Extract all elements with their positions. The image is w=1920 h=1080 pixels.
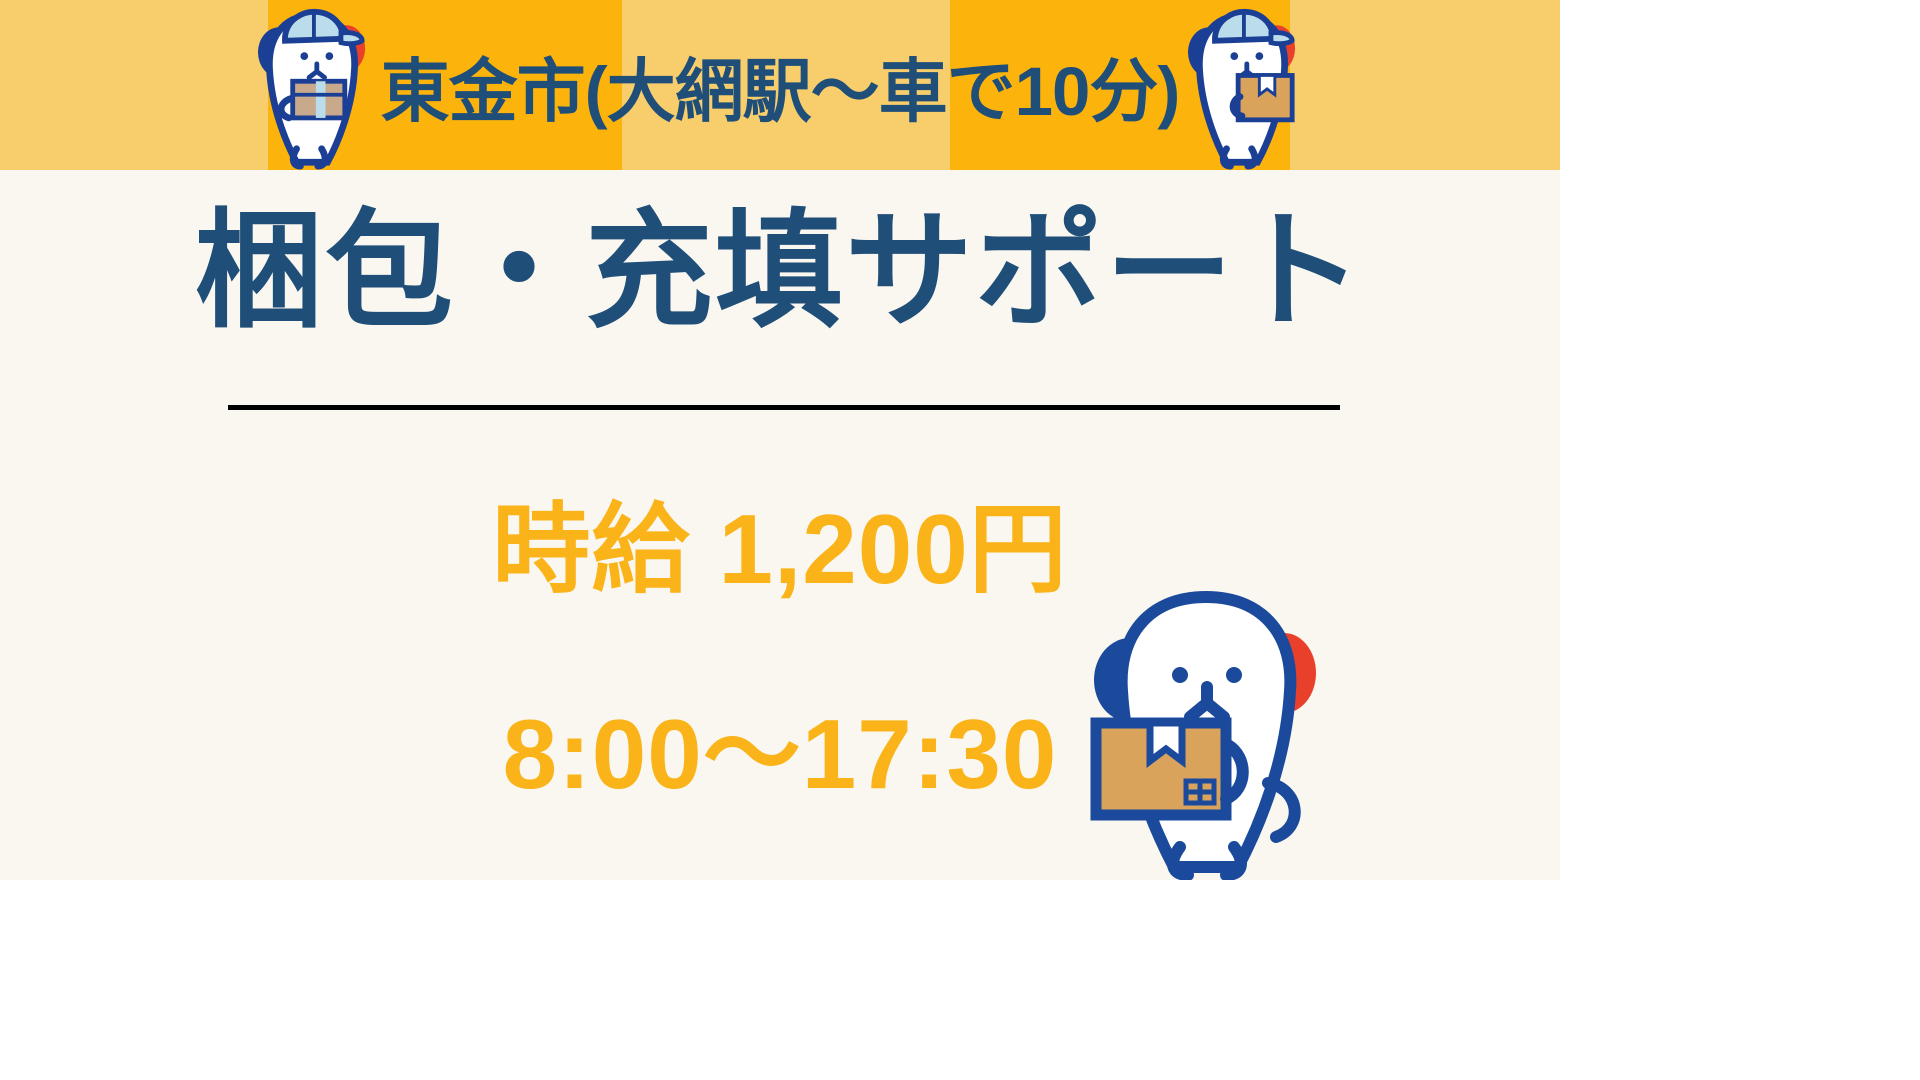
mascot-character-left <box>256 6 368 170</box>
title-divider <box>228 405 1340 410</box>
working-hours: 8:00〜17:30 <box>0 675 1560 817</box>
job-title: 梱包・充填サポート <box>0 205 1560 339</box>
hourly-wage: 時給 1,200円 <box>0 470 1560 612</box>
header-band: 東金市(大網駅〜車で10分) <box>0 0 1560 170</box>
mascot-character-with-box <box>1088 575 1318 880</box>
header-location-text: 東金市(大網駅〜車で10分) <box>0 0 1560 170</box>
mascot-character-right <box>1186 6 1298 170</box>
job-ad-poster: 東金市(大網駅〜車で10分) 梱包・充填サポート 時給 1,200円 8:00〜… <box>0 0 1560 880</box>
